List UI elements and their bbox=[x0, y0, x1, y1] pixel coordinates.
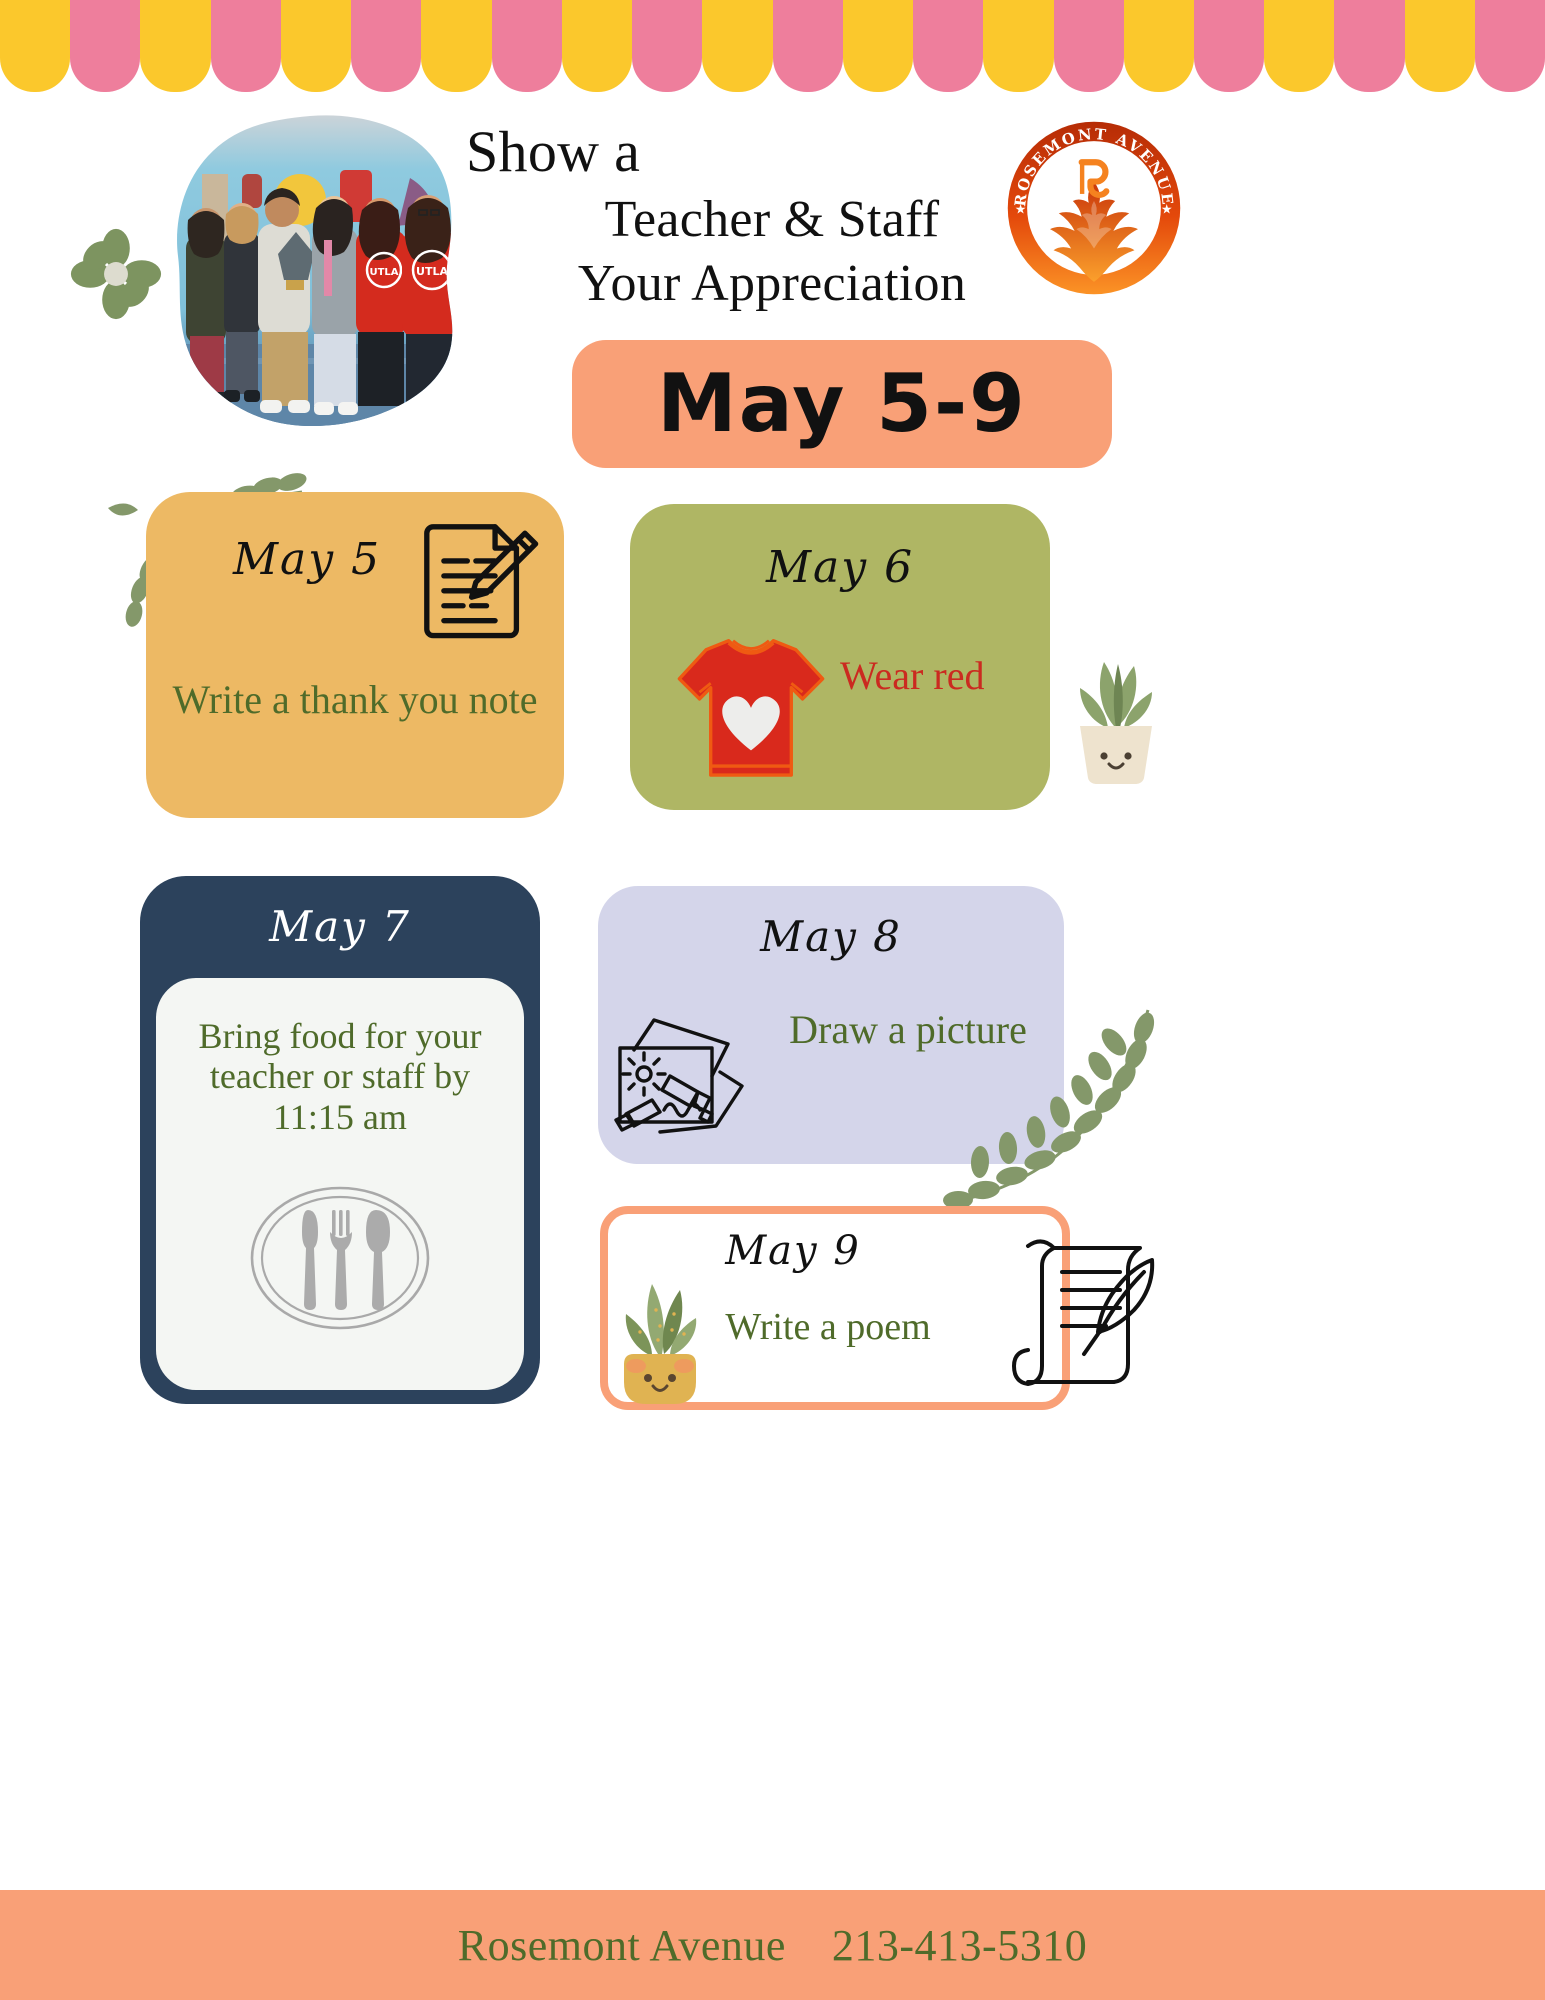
page-title: Show a Teacher & Staff Your Appreciation bbox=[440, 120, 1060, 313]
scallop-tab bbox=[140, 0, 210, 92]
date-range-text: May 5-9 bbox=[657, 364, 1027, 444]
scroll-and-quill-icon bbox=[1006, 1228, 1162, 1388]
scallop-tab bbox=[1334, 0, 1404, 92]
scalloped-top-border bbox=[0, 0, 1545, 92]
footer-school-name: Rosemont Avenue bbox=[458, 1920, 786, 1971]
card-may-7[interactable]: May 7 Bring food for your teacher or sta… bbox=[140, 876, 540, 1404]
card-may-5-text: Write a thank you note bbox=[170, 678, 540, 723]
scallop-tab bbox=[1264, 0, 1334, 92]
poster-canvas: UTLA UTLA Show a Teac bbox=[0, 0, 1545, 2000]
title-line-2: Teacher & Staff bbox=[440, 191, 1060, 249]
scallop-tab bbox=[1194, 0, 1264, 92]
plate-with-cutlery-icon bbox=[248, 1184, 432, 1332]
scallop-tab bbox=[1475, 0, 1545, 92]
scallop-tab bbox=[281, 0, 351, 92]
scallop-tab bbox=[421, 0, 491, 92]
scallop-tab bbox=[351, 0, 421, 92]
scallop-tab bbox=[983, 0, 1053, 92]
date-range-banner: May 5-9 bbox=[572, 340, 1112, 468]
svg-text:UTLA: UTLA bbox=[369, 267, 398, 278]
scallop-tab bbox=[1405, 0, 1475, 92]
scallop-tab bbox=[0, 0, 70, 92]
flower-icon bbox=[70, 228, 162, 320]
scallop-tab bbox=[70, 0, 140, 92]
red-tshirt-with-heart-icon bbox=[672, 634, 830, 784]
scallop-tab bbox=[843, 0, 913, 92]
scallop-tab bbox=[211, 0, 281, 92]
card-may-6-date: May 6 bbox=[630, 542, 1050, 593]
title-line-3: Your Appreciation bbox=[440, 255, 1060, 313]
card-may-7-date: May 7 bbox=[140, 902, 540, 951]
header-photo-group: UTLA UTLA bbox=[62, 108, 462, 438]
logo-star-right: ★ bbox=[1161, 201, 1173, 216]
scallop-tab bbox=[492, 0, 562, 92]
footer-phone[interactable]: 213-413-5310 bbox=[832, 1920, 1087, 1971]
potted-plant-icon bbox=[610, 1270, 710, 1410]
school-logo-seal: ROSEMONT AVENUE ELEMENTARY SCHOOL ★ ★ bbox=[1006, 120, 1182, 296]
card-may-5[interactable]: May 5 Write a thank you note bbox=[146, 492, 564, 818]
scallop-tab bbox=[632, 0, 702, 92]
scallop-tab bbox=[1124, 0, 1194, 92]
scallop-tab bbox=[562, 0, 632, 92]
scallop-tab bbox=[1054, 0, 1124, 92]
leaf-branch-icon bbox=[938, 1000, 1158, 1220]
scallop-tab bbox=[773, 0, 843, 92]
title-line-1: Show a bbox=[440, 120, 1060, 185]
card-may-6[interactable]: May 6 Wear red bbox=[630, 504, 1050, 810]
scallop-tab bbox=[702, 0, 772, 92]
card-may-9-text: Write a poem bbox=[704, 1306, 952, 1349]
card-may-8-date: May 8 bbox=[598, 912, 1064, 961]
card-may-9-date: May 9 bbox=[644, 1228, 942, 1274]
card-may-7-text: Bring food for your teacher or staff by … bbox=[170, 1016, 510, 1137]
scallop-tab bbox=[913, 0, 983, 92]
staff-photo: UTLA UTLA bbox=[162, 112, 462, 430]
card-may-6-text: Wear red bbox=[840, 654, 1040, 699]
drawing-with-crayons-icon bbox=[608, 1014, 758, 1138]
note-and-pencil-icon bbox=[414, 514, 542, 642]
potted-plant-icon bbox=[1062, 640, 1168, 788]
footer-bar: Rosemont Avenue 213-413-5310 bbox=[0, 1890, 1545, 2000]
card-may-7-inner-panel: Bring food for your teacher or staff by … bbox=[156, 978, 524, 1390]
logo-star-left: ★ bbox=[1015, 201, 1027, 216]
